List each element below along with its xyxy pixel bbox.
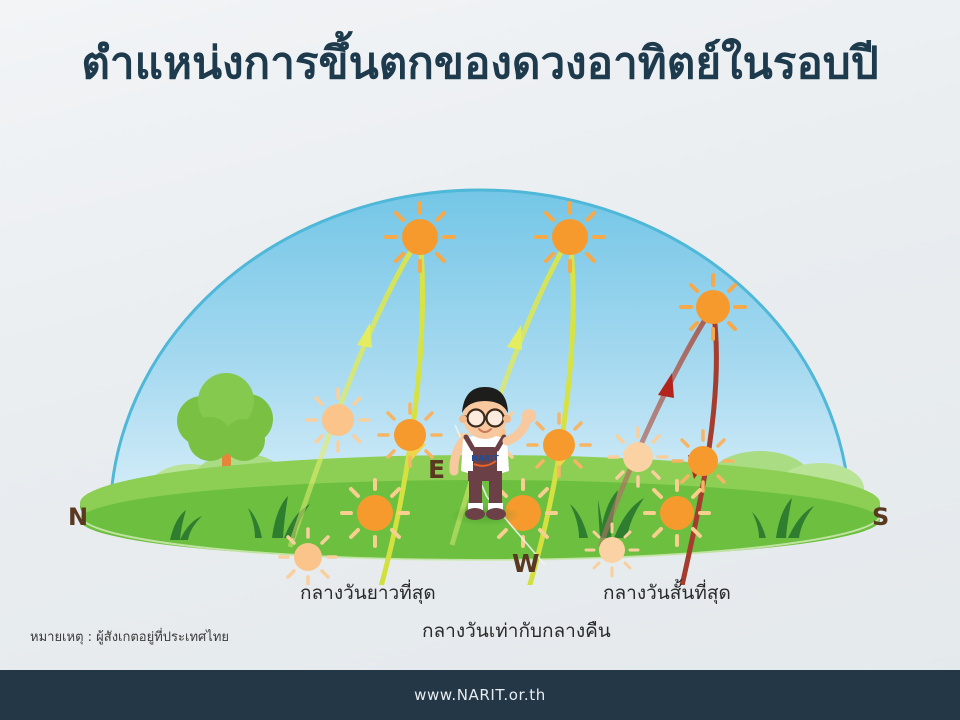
compass-label-south: S [872, 503, 889, 531]
caption-longest-day: กลางวันยาวที่สุด [300, 578, 436, 608]
compass-label-west: W [512, 549, 540, 578]
infographic-canvas: ตำแหน่งการขึ้นตกของดวงอาทิตย์ในรอบปี [0, 0, 960, 720]
sun-icon [645, 481, 709, 545]
sun-icon [536, 203, 604, 271]
caption-shortest-day: กลางวันสั้นที่สุด [603, 578, 731, 608]
sun-icon [528, 414, 590, 476]
compass-label-east: E [428, 455, 445, 484]
sun-icon [307, 389, 369, 451]
compass-label-north: N [68, 503, 88, 531]
sun-icon [342, 480, 408, 546]
page-title: ตำแหน่งการขึ้นตกของดวงอาทิตย์ในรอบปี [0, 36, 960, 91]
footer-url: www.NARIT.or.th [414, 686, 546, 704]
sun-icon [280, 529, 336, 585]
footnote: หมายเหตุ : ผู้สังเกตอยู่ที่ประเทศไทย [30, 626, 229, 647]
sun-icon [681, 275, 745, 339]
sky-dome-diagram: NARIT [0, 95, 960, 585]
caption-equal-day-night: กลางวันเท่ากับกลางคืน [422, 616, 611, 646]
sun-icon [386, 203, 454, 271]
sun-icon [586, 524, 638, 576]
sun-icon [673, 431, 733, 491]
footer-bar: www.NARIT.or.th [0, 670, 960, 720]
sun-icon [609, 428, 667, 486]
